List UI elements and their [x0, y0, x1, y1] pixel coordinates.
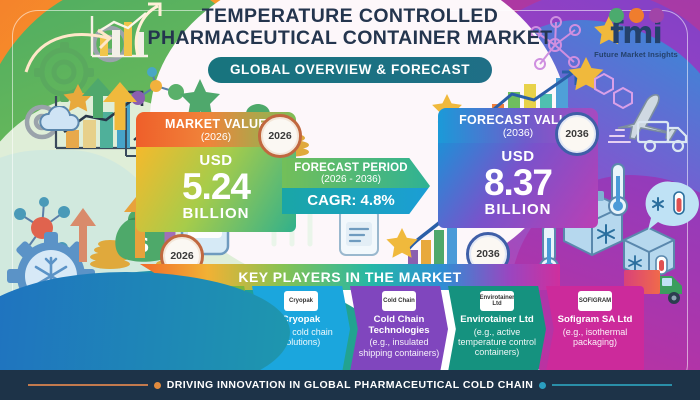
cagr-container: CAGR: 4.8% — [282, 188, 430, 214]
player-card-cold-chain-technologies[interactable]: Cold Chain Cold Chain Technologies (e.g.… — [350, 286, 448, 372]
footer-line-left — [28, 384, 148, 386]
player-logo-envirotainer: Envirotainer Ltd — [480, 291, 514, 311]
footer-line-right — [552, 384, 672, 386]
logo-dot-purple — [649, 8, 664, 23]
player-name: Envirotainer Ltd — [460, 315, 534, 326]
forecast-value-unit: BILLION — [442, 201, 594, 218]
player-logo-cryopak: Cryopak — [284, 291, 318, 311]
logo-wordmark: fmi — [588, 19, 684, 49]
logo-tagline: Future Market Insights — [588, 50, 684, 59]
footer-text: DRIVING INNOVATION IN GLOBAL PHARMACEUTI… — [167, 379, 534, 391]
clock-icon-2026-market: 2026 — [258, 114, 302, 158]
player-note: (e.g., isothermal packaging) — [550, 327, 640, 348]
subtitle-badge: GLOBAL OVERVIEW & FORECAST — [208, 57, 492, 83]
forecast-period-panel: FORECAST PERIOD (2026 - 2036) CAGR: 4.8% — [282, 158, 430, 214]
footer-bar: DRIVING INNOVATION IN GLOBAL PHARMACEUTI… — [0, 370, 700, 400]
player-name: Cold Chain Technologies — [354, 315, 444, 336]
market-value-unit: BILLION — [140, 205, 292, 222]
footer-dot-left — [154, 382, 161, 389]
forecast-value-amount: 8.37 — [442, 165, 594, 201]
forecast-period-range: (2026 - 2036) — [288, 174, 414, 185]
key-players-title: KEY PLAYERS IN THE MARKET — [238, 269, 461, 285]
player-logo-sofigram: SOFIGRAM — [578, 291, 612, 311]
player-card-sofigram[interactable]: SOFIGRAM Sofigram SA Ltd (e.g., isotherm… — [546, 286, 644, 372]
infographic-canvas: $ — [0, 0, 700, 400]
cagr-value: CAGR: 4.8% — [288, 192, 414, 209]
market-value-body: USD 5.24 BILLION — [136, 147, 296, 232]
player-logo-cold-chain: Cold Chain — [382, 291, 416, 311]
footer-dot-right — [539, 382, 546, 389]
player-note: (e.g., active temperature control contai… — [452, 327, 542, 358]
market-value-amount: 5.24 — [140, 169, 292, 205]
player-note: (e.g., insulated shipping containers) — [354, 337, 444, 358]
player-card-envirotainer[interactable]: Envirotainer Ltd Envirotainer Ltd (e.g.,… — [448, 286, 546, 372]
clock-icon-2036-forecast: 2036 — [555, 112, 599, 156]
player-name: Sofigram SA Ltd — [558, 315, 633, 326]
logo-dot-green — [609, 8, 624, 23]
forecast-period-header: FORECAST PERIOD (2026 - 2036) — [282, 158, 430, 188]
fmi-logo[interactable]: fmi Future Market Insights — [588, 8, 684, 59]
logo-dot-orange — [629, 8, 644, 23]
forecast-period-label: FORECAST PERIOD — [288, 162, 414, 174]
